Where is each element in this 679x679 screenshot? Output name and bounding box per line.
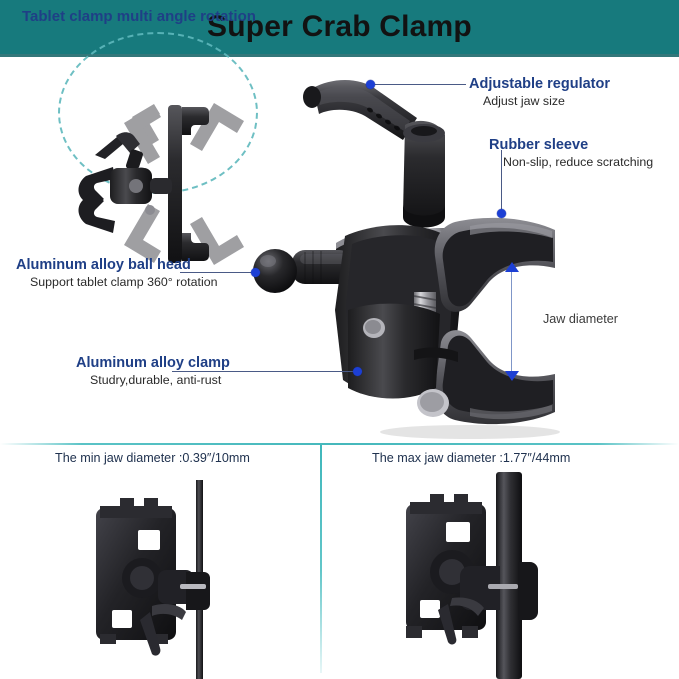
callout-rubber-title: Rubber sleeve <box>489 137 653 154</box>
thread-upper <box>418 228 448 252</box>
vertical-divider <box>320 445 322 673</box>
callout-dot-icon-rubber <box>497 209 506 218</box>
max-jaw-illustration <box>406 472 538 679</box>
infographic-page: Super Crab Clamp <box>0 0 679 679</box>
ball-head-group <box>253 249 352 293</box>
callout-dot-icon-regulator <box>366 80 375 89</box>
callout-ballhead-title: Aluminum alloy ball head <box>16 257 218 274</box>
callout-alloy-clamp: Aluminum alloy clamp Studry,durable, ant… <box>76 355 230 388</box>
upper-jaw <box>435 218 555 312</box>
callout-regulator-subtitle: Adjust jaw size <box>483 94 610 110</box>
max-jaw-caption: The max jaw diameter :1.77″/44mm <box>372 451 570 465</box>
arrow-up-icon <box>505 262 519 272</box>
callout-rotation: Tablet clamp multi angle rotation <box>22 8 256 25</box>
main-clamp-group <box>253 80 560 439</box>
jaw-diameter-measure-line <box>511 268 512 380</box>
leader-line-regulator <box>374 84 466 85</box>
callout-clamp-subtitle: Studry,durable, anti-rust <box>90 373 230 389</box>
callout-rubber-sleeve: Rubber sleeve Non-slip, reduce scratchin… <box>489 137 653 170</box>
callout-dot-icon-clamp <box>353 367 362 376</box>
thread-lower <box>414 292 436 392</box>
callout-dot-icon-ballhead <box>251 268 260 277</box>
arrow-down-icon <box>505 371 519 381</box>
min-jaw-caption: The min jaw diameter :0.39″/10mm <box>55 451 250 465</box>
callout-clamp-title: Aluminum alloy clamp <box>76 355 230 372</box>
callout-rotation-title: Tablet clamp multi angle rotation <box>22 8 256 25</box>
rotation-illustration <box>52 30 262 195</box>
callout-ball-head: Aluminum alloy ball head Support tablet … <box>16 257 218 290</box>
min-jaw-illustration <box>96 480 210 679</box>
dashed-circle-icon <box>58 32 258 194</box>
callout-regulator: Adjustable regulator Adjust jaw size <box>469 76 610 109</box>
callout-regulator-title: Adjustable regulator <box>469 76 610 93</box>
jaw-diameter-label: Jaw diameter <box>543 312 618 326</box>
lower-jaw <box>435 330 555 424</box>
callout-ballhead-subtitle: Support tablet clamp 360° rotation <box>30 275 218 291</box>
horizontal-divider <box>0 443 679 445</box>
callout-rubber-subtitle: Non-slip, reduce scratching <box>503 155 653 171</box>
